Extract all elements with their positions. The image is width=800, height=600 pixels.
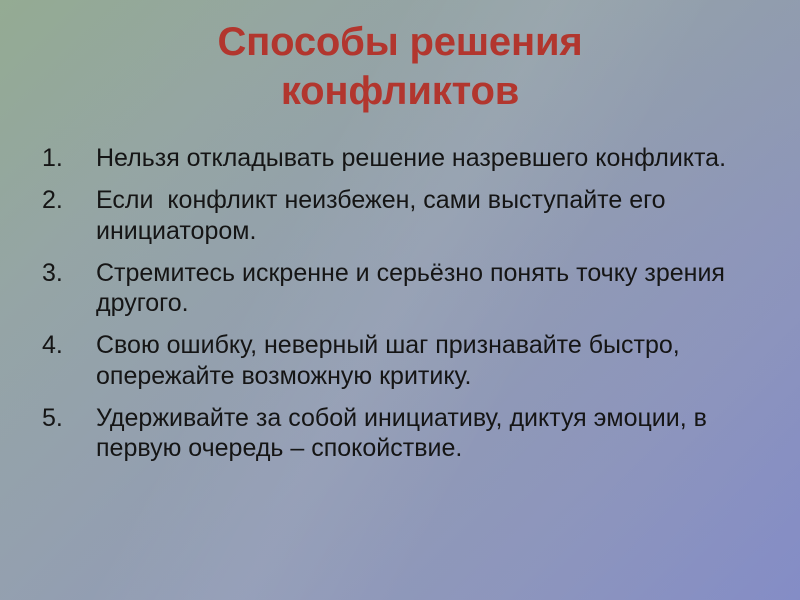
list-item: 3. Стремитесь искренне и серьёзно понять… [42,258,770,319]
presentation-slide: Способы решения конфликтов 1. Нельзя отк… [0,0,800,600]
list-item-number: 5. [42,403,96,433]
list-item-text: Если конфликт неизбежен, сами выступайте… [96,185,770,246]
list-item-text: Свою ошибку, неверный шаг признавайте бы… [96,330,770,391]
list-item-number: 2. [42,185,96,215]
list-item-number: 1. [42,143,96,173]
list-item-number: 4. [42,330,96,360]
list-item: 5. Удерживайте за собой инициативу, дикт… [42,403,770,464]
list-item: 4. Свою ошибку, неверный шаг признавайте… [42,330,770,391]
list-item-text: Стремитесь искренне и серьёзно понять то… [96,258,770,319]
list-item: 1. Нельзя откладывать решение назревшего… [42,143,770,173]
list-item-text: Удерживайте за собой инициативу, диктуя … [96,403,770,464]
page-title: Способы решения конфликтов [60,18,740,116]
list-item-number: 3. [42,258,96,288]
conflict-resolution-list: 1. Нельзя откладывать решение назревшего… [42,143,770,463]
page-title-line-1: Способы решения [218,20,583,64]
slide-content: Способы решения конфликтов 1. Нельзя отк… [0,0,800,600]
list-item: 2. Если конфликт неизбежен, сами выступа… [42,185,770,246]
page-title-line-2: конфликтов [281,69,519,113]
list-item-text: Нельзя откладывать решение назревшего ко… [96,143,770,173]
